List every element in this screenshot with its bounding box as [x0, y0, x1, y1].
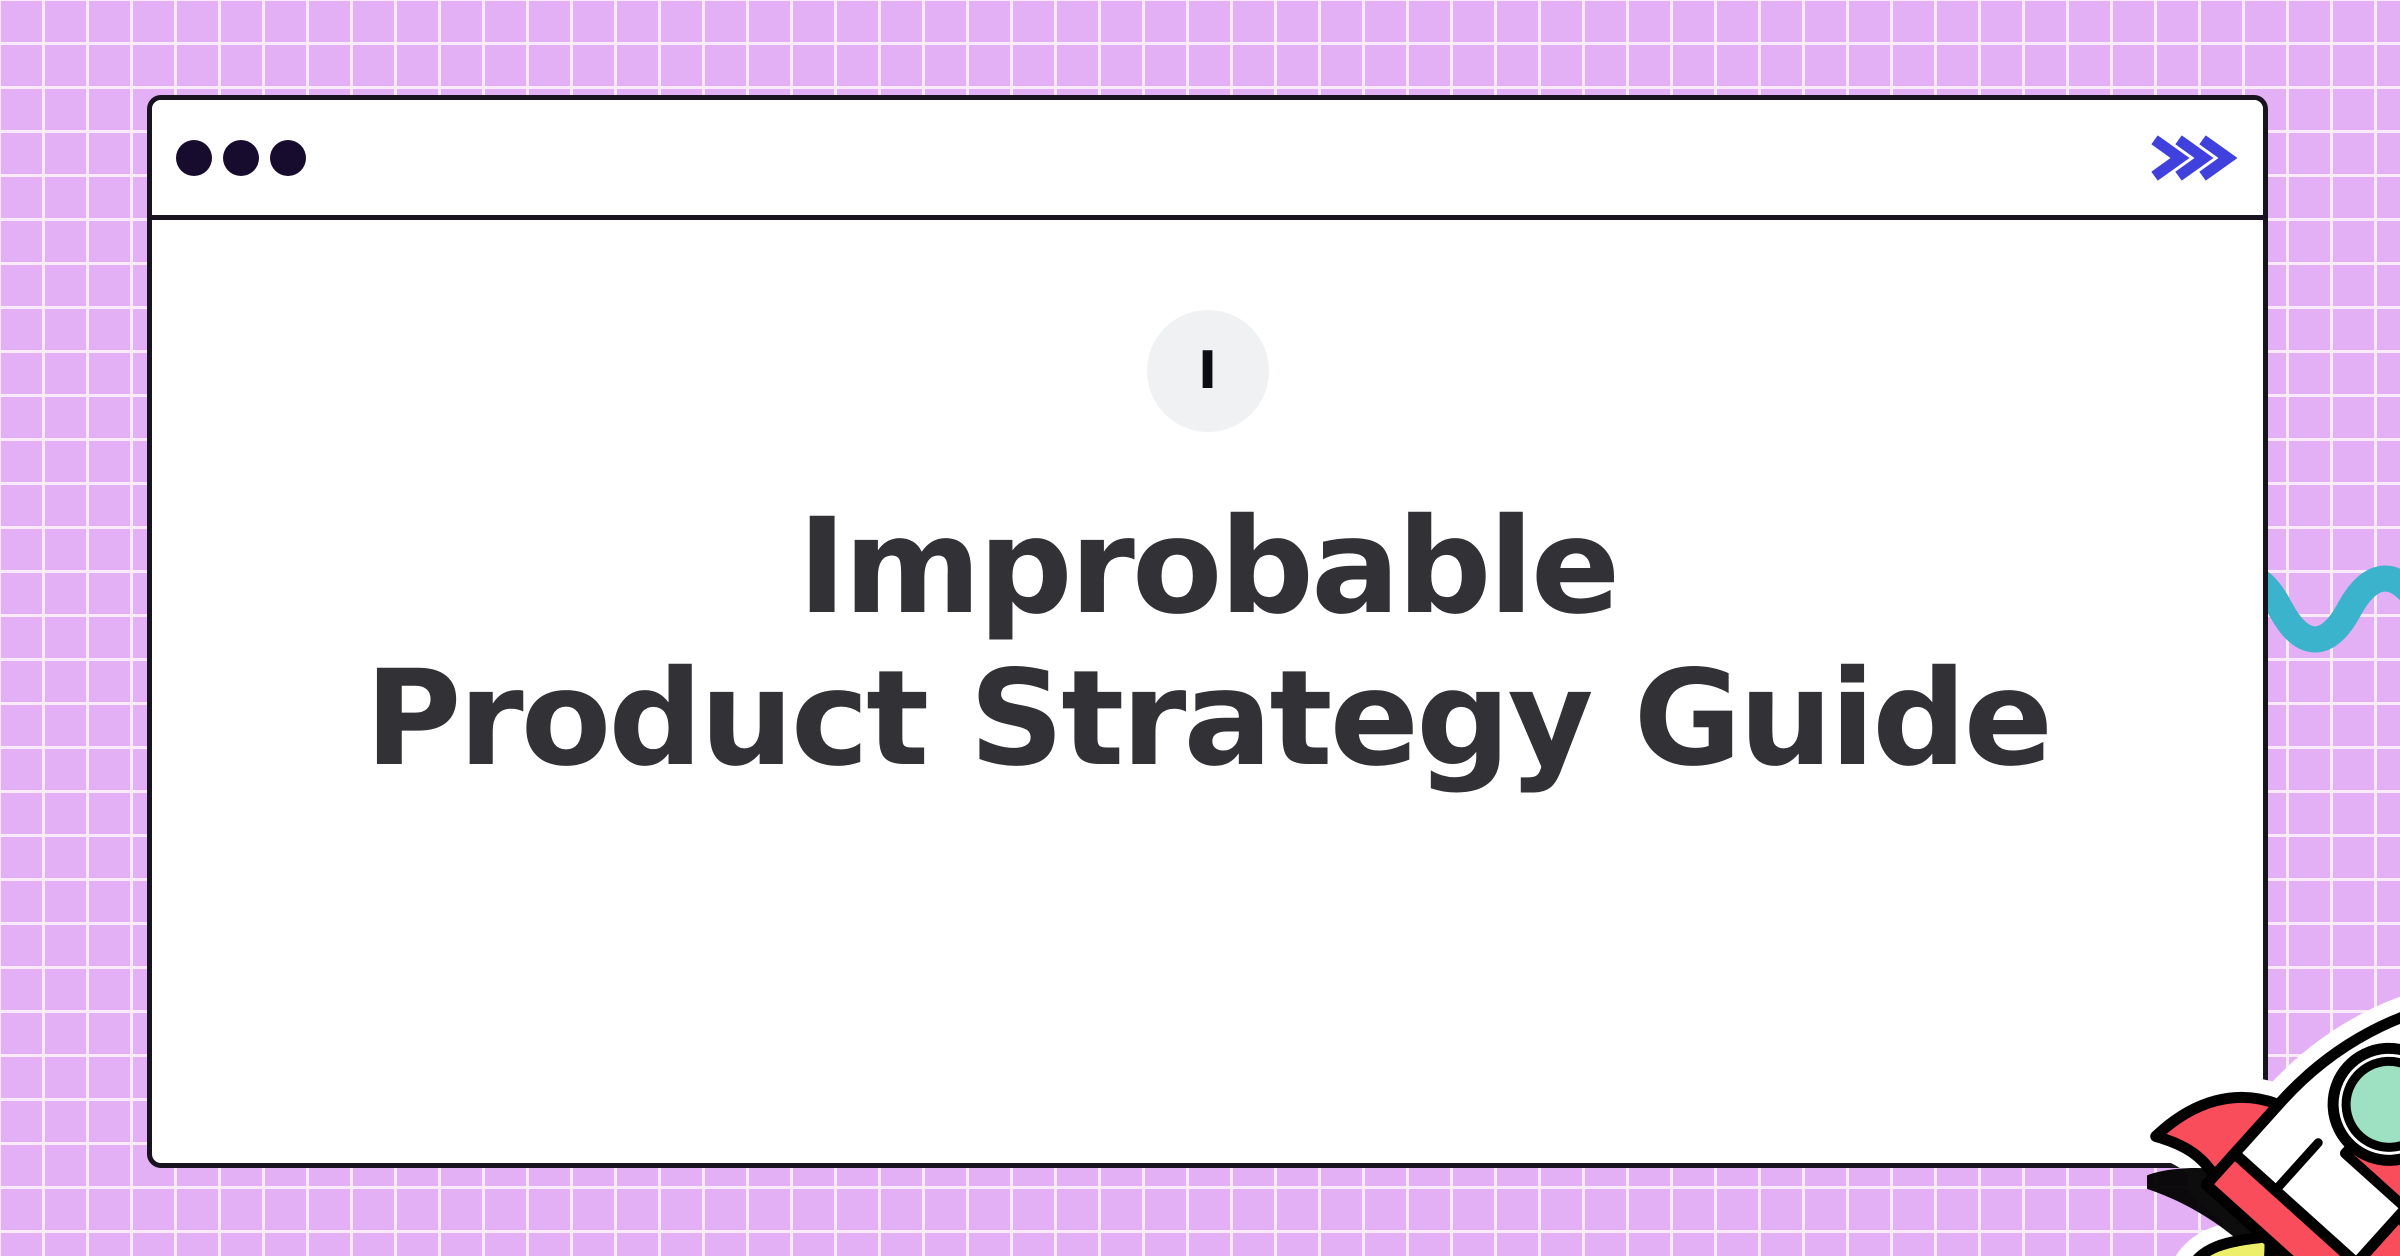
- slide-content-area: I Improbable Product Strategy Guide: [152, 220, 2263, 1163]
- section-number-badge: I: [1147, 310, 1269, 432]
- maximize-dot-icon[interactable]: [270, 140, 306, 176]
- double-chevron-right-icon[interactable]: [2151, 134, 2237, 182]
- window-titlebar: [152, 100, 2263, 220]
- close-dot-icon[interactable]: [176, 140, 212, 176]
- minimize-dot-icon[interactable]: [223, 140, 259, 176]
- traffic-light-controls[interactable]: [176, 140, 306, 176]
- section-number-label: I: [1198, 345, 1217, 397]
- slide-title: Improbable Product Strategy Guide: [365, 492, 2050, 796]
- browser-window: I Improbable Product Strategy Guide: [147, 95, 2268, 1168]
